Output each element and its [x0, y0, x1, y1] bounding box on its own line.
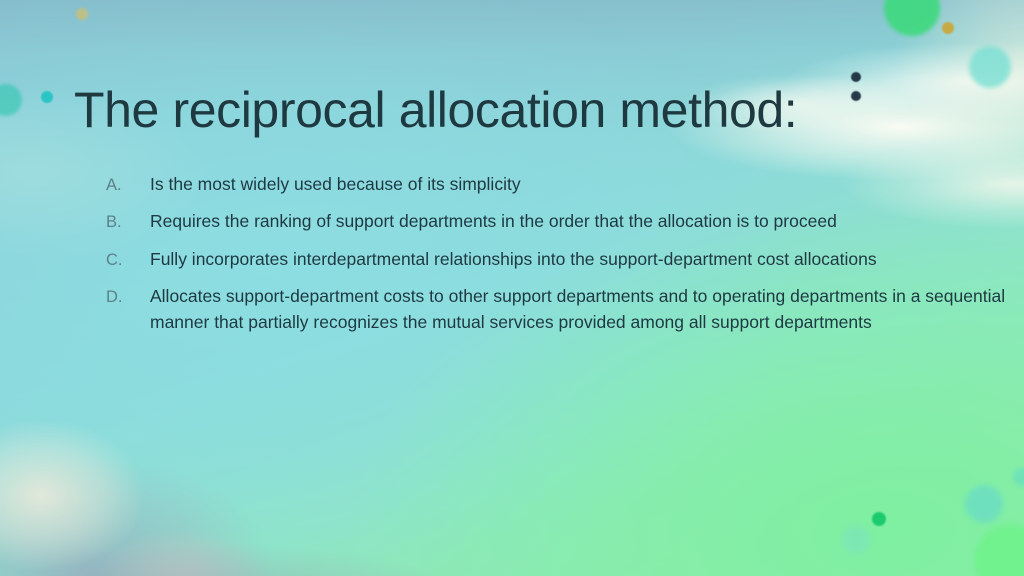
answer-text: Requires the ranking of support departme…	[150, 209, 1006, 234]
answer-option[interactable]: D.Allocates support-department costs to …	[106, 284, 1006, 335]
answer-marker: B.	[106, 209, 150, 234]
slide-content: The reciprocal allocation method: A.Is t…	[0, 0, 1024, 576]
presentation-slide: The reciprocal allocation method: A.Is t…	[0, 0, 1024, 576]
answer-options-list: A.Is the most widely used because of its…	[66, 172, 1006, 335]
answer-text: Fully incorporates interdepartmental rel…	[150, 247, 1006, 272]
answer-option[interactable]: C.Fully incorporates interdepartmental r…	[106, 247, 1006, 272]
answer-text: Allocates support-department costs to ot…	[150, 284, 1006, 335]
answer-option[interactable]: A.Is the most widely used because of its…	[106, 172, 1006, 197]
answer-marker: D.	[106, 284, 150, 309]
answer-marker: C.	[106, 247, 150, 272]
answer-option[interactable]: B.Requires the ranking of support depart…	[106, 209, 1006, 234]
answer-text: Is the most widely used because of its s…	[150, 172, 1006, 197]
answer-marker: A.	[106, 172, 150, 197]
page-title: The reciprocal allocation method:	[74, 82, 954, 138]
